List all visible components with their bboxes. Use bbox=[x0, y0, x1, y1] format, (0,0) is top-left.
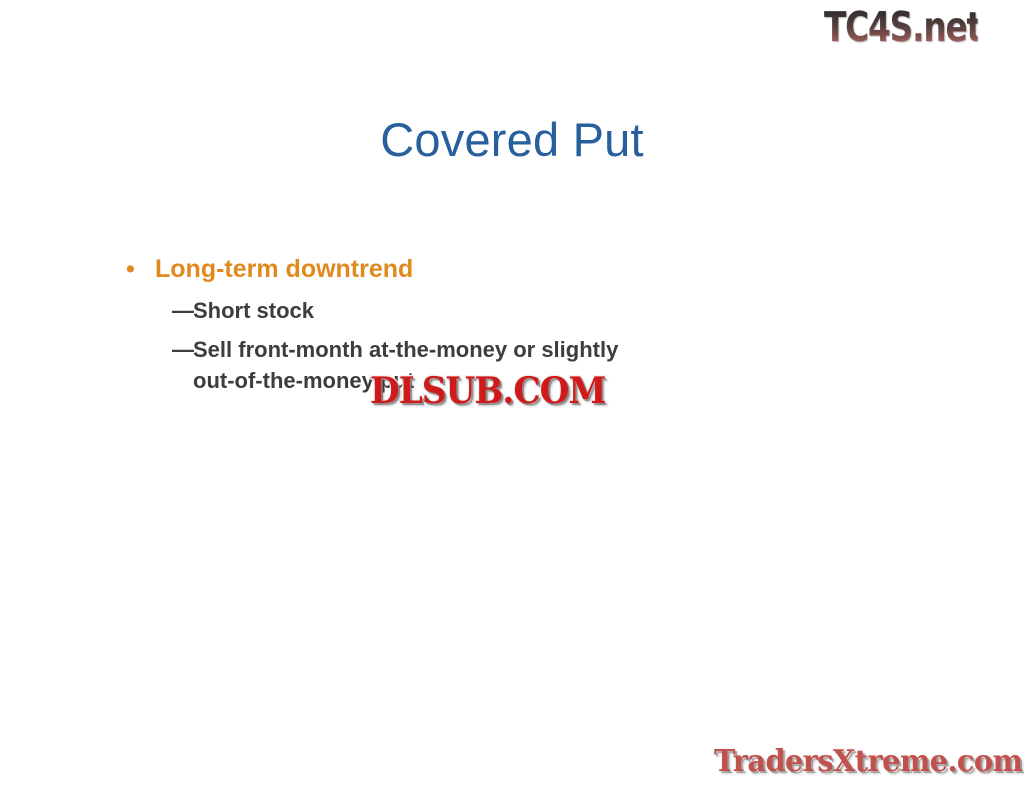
tc4s-logo-text: TC4S.net bbox=[824, 2, 978, 52]
bullet-level2-short-stock: — Short stock bbox=[120, 295, 680, 326]
bullet-dash-icon: — bbox=[172, 334, 192, 365]
bullet-level1-downtrend: • Long-term downtrend bbox=[120, 252, 680, 286]
tc4s-logo: TC4S.net bbox=[824, 2, 1016, 54]
bullet-dash-icon: — bbox=[172, 295, 192, 326]
tradersxtreme-watermark: TradersXtreme.com bbox=[714, 744, 1022, 779]
bullet-dot-icon: • bbox=[126, 252, 135, 286]
page-title: Covered Put bbox=[0, 112, 1024, 167]
tradersxtreme-watermark-text: TradersXtreme.com bbox=[714, 744, 1022, 779]
bullet-level1-label: Long-term downtrend bbox=[155, 255, 413, 283]
dlsub-watermark-text: DLSUB.COM bbox=[370, 370, 605, 412]
bullet-level2-label: Short stock bbox=[193, 295, 645, 326]
dlsub-watermark: DLSUB.COM bbox=[370, 370, 605, 412]
slide-canvas: TC4S.net Covered Put • Long-term downtre… bbox=[0, 0, 1024, 791]
